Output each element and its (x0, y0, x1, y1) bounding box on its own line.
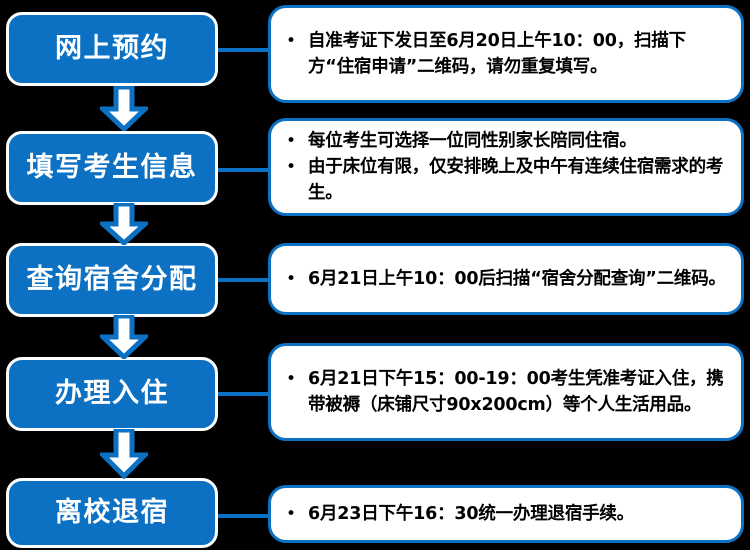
bullet-icon: • (283, 501, 308, 527)
note-text: 自准考证下发日至6月20日上午10：00，扫描下方“住宿申请”二维码，请勿重复填… (308, 28, 731, 80)
down-arrow-icon (100, 86, 148, 131)
bullet-icon: • (283, 366, 308, 392)
down-arrow-icon (100, 315, 148, 359)
step-box-3[interactable]: 查询宿舍分配 (6, 243, 218, 317)
note-text: 每位考生可选择一位同性别家长陪同住宿。 (308, 128, 731, 154)
bullet-icon: • (283, 266, 308, 292)
bullet-icon: • (283, 28, 308, 54)
down-arrow-1 (100, 86, 148, 131)
note-item: • 6月21日下午15：00-19：00考生凭准考证入住，携带被褥（床铺尺寸90… (283, 366, 731, 418)
step-box-5[interactable]: 离校退宿 (6, 478, 218, 548)
step-box-1[interactable]: 网上预约 (6, 12, 218, 86)
note-box-5[interactable]: • 6月23日下午16：30统一办理退宿手续。 (268, 485, 744, 543)
step-label-5: 离校退宿 (55, 498, 169, 528)
note-box-3[interactable]: • 6月21日上午10：00后扫描“宿舍分配查询”二维码。 (268, 243, 744, 315)
down-arrow-3 (100, 315, 148, 359)
down-arrow-2 (100, 203, 148, 245)
note-box-4[interactable]: • 6月21日下午15：00-19：00考生凭准考证入住，携带被褥（床铺尺寸90… (268, 343, 744, 441)
step-label-3: 查询宿舍分配 (27, 265, 198, 295)
note-text: 6月23日下午16：30统一办理退宿手续。 (308, 501, 731, 527)
note-text: 6月21日下午15：00-19：00考生凭准考证入住，携带被褥（床铺尺寸90x2… (308, 366, 731, 418)
down-arrow-icon (100, 429, 148, 479)
step-box-4[interactable]: 办理入住 (6, 357, 218, 431)
note-item: • 每位考生可选择一位同性别家长陪同住宿。 (283, 128, 731, 154)
note-item: • 6月23日下午16：30统一办理退宿手续。 (283, 501, 731, 527)
bullet-icon: • (283, 154, 308, 180)
note-item: • 6月21日上午10：00后扫描“宿舍分配查询”二维码。 (283, 266, 731, 292)
note-item: • 自准考证下发日至6月20日上午10：00，扫描下方“住宿申请”二维码，请勿重… (283, 28, 731, 80)
step-label-4: 办理入住 (55, 379, 169, 409)
note-item: • 由于床位有限，仅安排晚上及中午有连续住宿需求的考生。 (283, 154, 731, 206)
step-label-2: 填写考生信息 (27, 153, 198, 183)
note-box-2[interactable]: • 每位考生可选择一位同性别家长陪同住宿。 • 由于床位有限，仅安排晚上及中午有… (268, 118, 744, 216)
step-label-1: 网上预约 (55, 34, 169, 64)
note-text: 6月21日上午10：00后扫描“宿舍分配查询”二维码。 (308, 266, 731, 292)
flowchart-canvas: 网上预约 填写考生信息 查询宿舍分配 办理入住 离校退宿 • (0, 0, 750, 550)
note-text: 由于床位有限，仅安排晚上及中午有连续住宿需求的考生。 (308, 154, 731, 206)
bullet-icon: • (283, 128, 308, 154)
down-arrow-4 (100, 429, 148, 479)
step-box-2[interactable]: 填写考生信息 (6, 131, 218, 205)
down-arrow-icon (100, 203, 148, 245)
note-box-1[interactable]: • 自准考证下发日至6月20日上午10：00，扫描下方“住宿申请”二维码，请勿重… (268, 5, 744, 103)
